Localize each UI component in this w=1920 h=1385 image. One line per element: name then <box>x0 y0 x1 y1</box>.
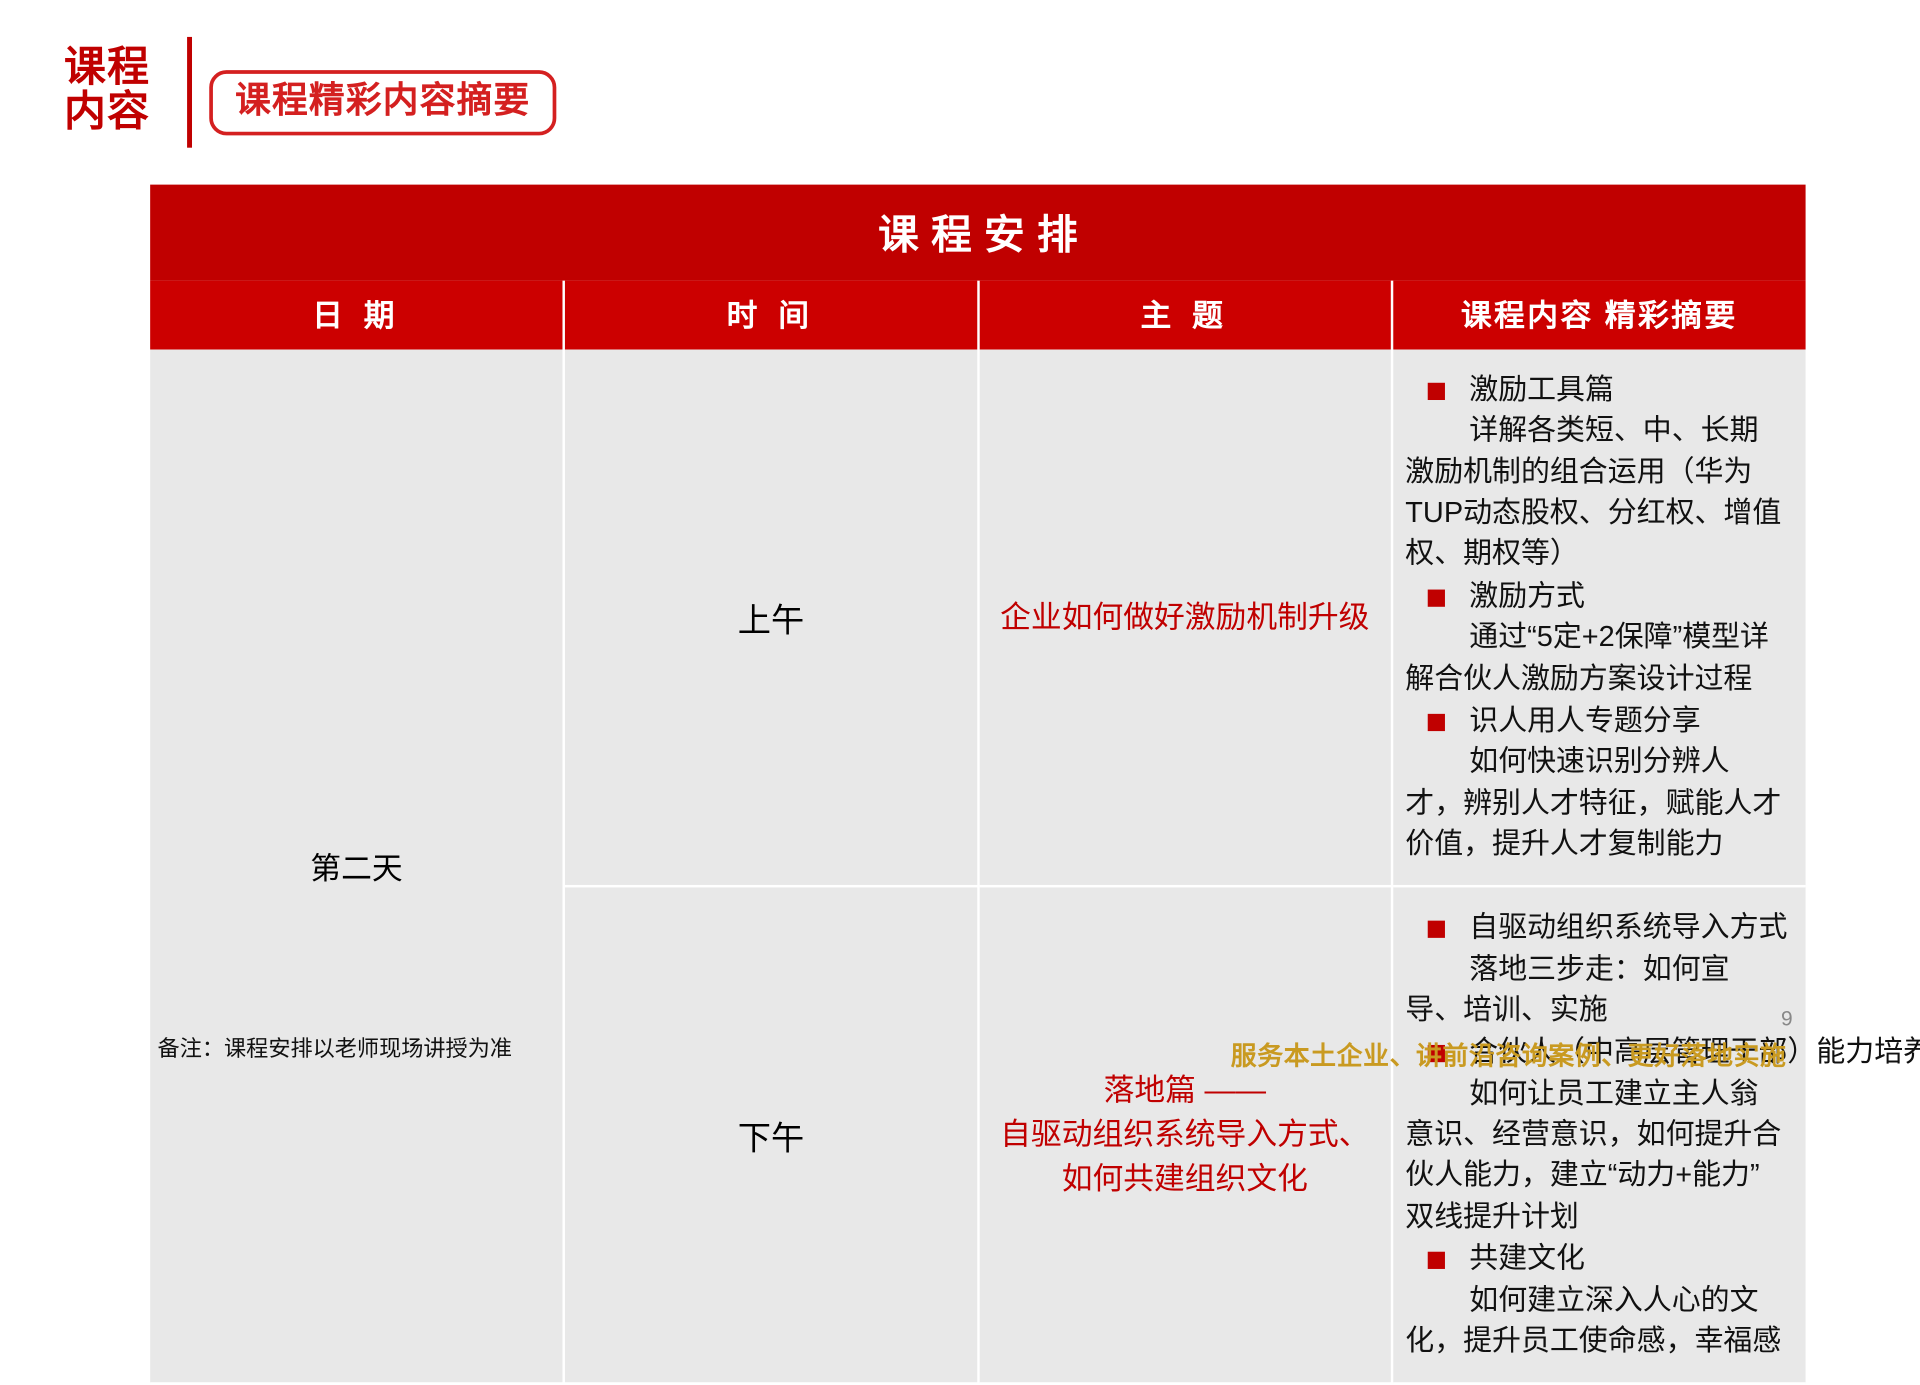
square-bullet-icon <box>1427 714 1444 731</box>
detail-heading-text: 识人用人专题分享 <box>1469 704 1700 736</box>
topic-line: 落地篇 —— <box>989 1068 1381 1113</box>
column-header-time: 时 间 <box>564 281 978 350</box>
square-bullet-icon <box>1427 921 1444 938</box>
cell-time-afternoon: 下午 <box>564 887 978 1384</box>
list-item: 自驱动组织系统导入方式 落地三步走：如何宣导、培训、实施 <box>1405 907 1788 1030</box>
table-title-row: 课程安排 <box>150 185 1805 281</box>
list-item: 激励工具篇 详解各类短、中、长期激励机制的组合运用（华为TUP动态股权、分红权、… <box>1405 369 1788 574</box>
detail-heading-text: 共建文化 <box>1469 1242 1585 1274</box>
course-schedule-table: 课程安排 日 期 时 间 主 题 课程内容 精彩摘要 第二天 上午 企业如何做好… <box>150 185 1805 1385</box>
slide-canvas: 课程 内容 课程精彩内容摘要 课程安排 日 期 时 间 主 题 课程内容 精彩摘… <box>0 0 1920 1083</box>
detail-heading: 激励工具篇 <box>1405 369 1788 410</box>
table-row: 第二天 上午 企业如何做好激励机制升级 激励工具篇 详解各类短、中、长期激励机制… <box>150 350 1805 887</box>
list-item: 共建文化 如何建立深入人心的文化，提升员工使命感，幸福感 <box>1405 1238 1788 1361</box>
detail-heading: 激励方式 <box>1405 576 1788 617</box>
table-title-text: 课程安排 <box>866 212 1090 258</box>
list-item: 激励方式 通过“5定+2保障”模型详解合伙人激励方案设计过程 <box>1405 576 1788 699</box>
header-divider <box>187 37 192 148</box>
detail-body: 如何让员工建立主人翁意识、经营意识，如何提升合伙人能力，建立“动力+能力”双线提… <box>1405 1073 1788 1237</box>
kicker-line-1: 课程 <box>64 47 177 91</box>
table-header-row: 日 期 时 间 主 题 课程内容 精彩摘要 <box>150 281 1805 350</box>
slide-header: 课程 内容 课程精彩内容摘要 <box>0 0 1920 172</box>
detail-heading-text: 激励工具篇 <box>1469 373 1614 405</box>
detail-body: 通过“5定+2保障”模型详解合伙人激励方案设计过程 <box>1405 617 1788 699</box>
detail-heading: 共建文化 <box>1405 1238 1788 1279</box>
detail-heading-text: 激励方式 <box>1469 579 1585 611</box>
detail-body: 详解各类短、中、长期激励机制的组合运用（华为TUP动态股权、分红权、增值权、期权… <box>1405 410 1788 574</box>
footer-note: 备注：课程安排以老师现场讲授为准 <box>158 1031 512 1063</box>
detail-heading: 识人用人专题分享 <box>1405 700 1788 741</box>
page-number: 9 <box>1781 1007 1793 1032</box>
cell-details-afternoon: 自驱动组织系统导入方式 落地三步走：如何宣导、培训、实施 合伙人（中高层管理干部… <box>1392 887 1806 1384</box>
cell-time-morning: 上午 <box>564 350 978 887</box>
cell-day: 第二天 <box>150 350 564 1384</box>
detail-heading: 自驱动组织系统导入方式 <box>1405 907 1788 948</box>
footer-tagline: 服务本土企业、讲前沿咨询案例、更好落地实施 <box>1231 1036 1787 1073</box>
square-bullet-icon <box>1427 1252 1444 1269</box>
square-bullet-icon <box>1427 589 1444 606</box>
table-title: 课程安排 <box>150 185 1805 281</box>
column-header-topic: 主 题 <box>978 281 1392 350</box>
column-header-details: 课程内容 精彩摘要 <box>1392 281 1806 350</box>
topic-line: 如何共建组织文化 <box>989 1157 1381 1202</box>
cell-details-morning: 激励工具篇 详解各类短、中、长期激励机制的组合运用（华为TUP动态股权、分红权、… <box>1392 350 1806 887</box>
detail-list-morning: 激励工具篇 详解各类短、中、长期激励机制的组合运用（华为TUP动态股权、分红权、… <box>1405 369 1788 864</box>
list-item: 识人用人专题分享 如何快速识别分辨人才，辨别人才特征，赋能人才价值，提升人才复制… <box>1405 700 1788 864</box>
section-kicker: 课程 内容 <box>64 47 177 135</box>
kicker-line-2: 内容 <box>64 91 177 135</box>
detail-body: 如何快速识别分辨人才，辨别人才特征，赋能人才价值，提升人才复制能力 <box>1405 741 1788 864</box>
detail-list-afternoon: 自驱动组织系统导入方式 落地三步走：如何宣导、培训、实施 合伙人（中高层管理干部… <box>1405 907 1788 1361</box>
cell-topic-morning: 企业如何做好激励机制升级 <box>978 350 1392 887</box>
detail-body: 如何建立深入人心的文化，提升员工使命感，幸福感 <box>1405 1279 1788 1361</box>
square-bullet-icon <box>1427 383 1444 400</box>
detail-body: 落地三步走：如何宣导、培训、实施 <box>1405 949 1788 1031</box>
topic-line: 企业如何做好激励机制升级 <box>989 595 1381 640</box>
section-badge: 课程精彩内容摘要 <box>209 70 556 135</box>
detail-heading-text: 自驱动组织系统导入方式 <box>1469 911 1787 943</box>
topic-line: 自驱动组织系统导入方式、 <box>989 1113 1381 1158</box>
cell-topic-afternoon: 落地篇 —— 自驱动组织系统导入方式、 如何共建组织文化 <box>978 887 1392 1384</box>
column-header-date: 日 期 <box>150 281 564 350</box>
